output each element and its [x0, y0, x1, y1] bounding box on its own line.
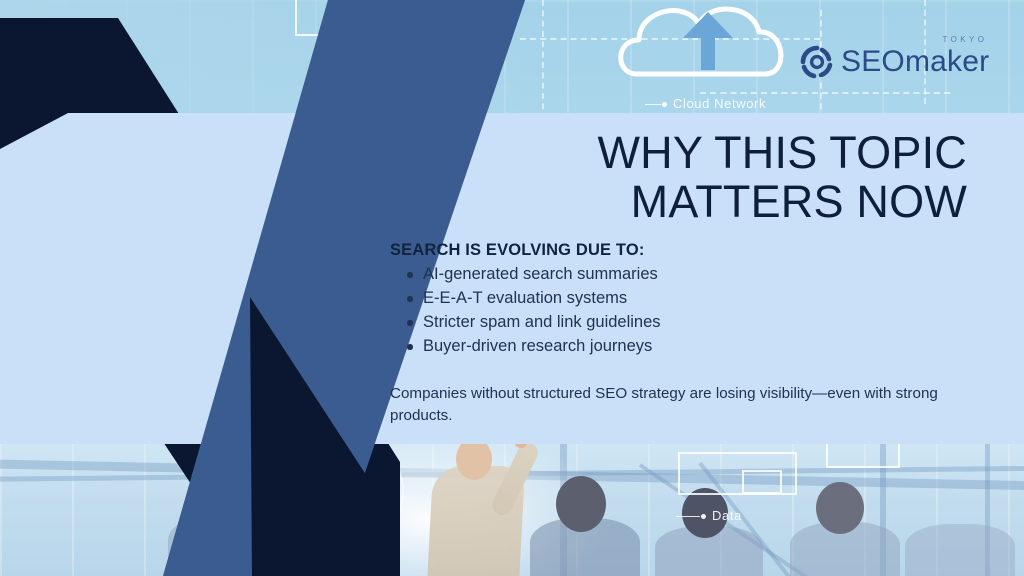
photo-attendee-head [200, 470, 252, 528]
kicker-heading: SEARCH IS EVOLVING DUE TO: [390, 241, 990, 260]
cloud-leader-dot [662, 102, 667, 107]
cloud-upload-icon [613, 0, 803, 100]
bullet-list: AI-generated search summaries E-E-A-T ev… [390, 262, 990, 358]
wireframe-arc-domain [280, 430, 404, 554]
list-item: AI-generated search summaries [423, 262, 990, 286]
title-line-1: WHY THIS TOPIC [597, 127, 967, 178]
slide-canvas: Cloud Network SEOmaker TOKYO [0, 0, 1024, 576]
seo-maker-logo[interactable]: SEOmaker TOKYO [800, 45, 989, 79]
list-item: Buyer-driven research journeys [423, 334, 990, 358]
photo-attendee-head [556, 476, 606, 532]
cloud-leader-line [645, 104, 661, 105]
logo-seo-text: SEO [841, 45, 905, 78]
body-content: SEARCH IS EVOLVING DUE TO: AI-generated … [390, 241, 990, 426]
logo-maker-text: maker [905, 45, 989, 78]
logo-wordmark: SEOmaker TOKYO [841, 47, 989, 77]
summary-paragraph: Companies without structured SEO strateg… [390, 383, 970, 426]
list-item: Stricter spam and link guidelines [423, 310, 990, 334]
data-leader-line [676, 516, 700, 517]
wireframe-rect-top [295, 0, 407, 36]
list-item: E-E-A-T evaluation systems [423, 286, 990, 310]
photo-attendee [905, 524, 1015, 576]
photo-attendee-head [816, 482, 864, 534]
data-leader-dot [701, 514, 706, 519]
title-line-2: MATTERS NOW [347, 178, 967, 227]
page-title: WHY THIS TOPIC MATTERS NOW [347, 129, 967, 226]
annotation-label-data: Data [712, 508, 742, 523]
seo-maker-ring-icon [800, 45, 834, 79]
annotation-label-cloud-network: Cloud Network [673, 96, 766, 111]
wireframe-rect-data-small [742, 470, 782, 494]
logo-tokyo-text: TOKYO [942, 36, 987, 44]
